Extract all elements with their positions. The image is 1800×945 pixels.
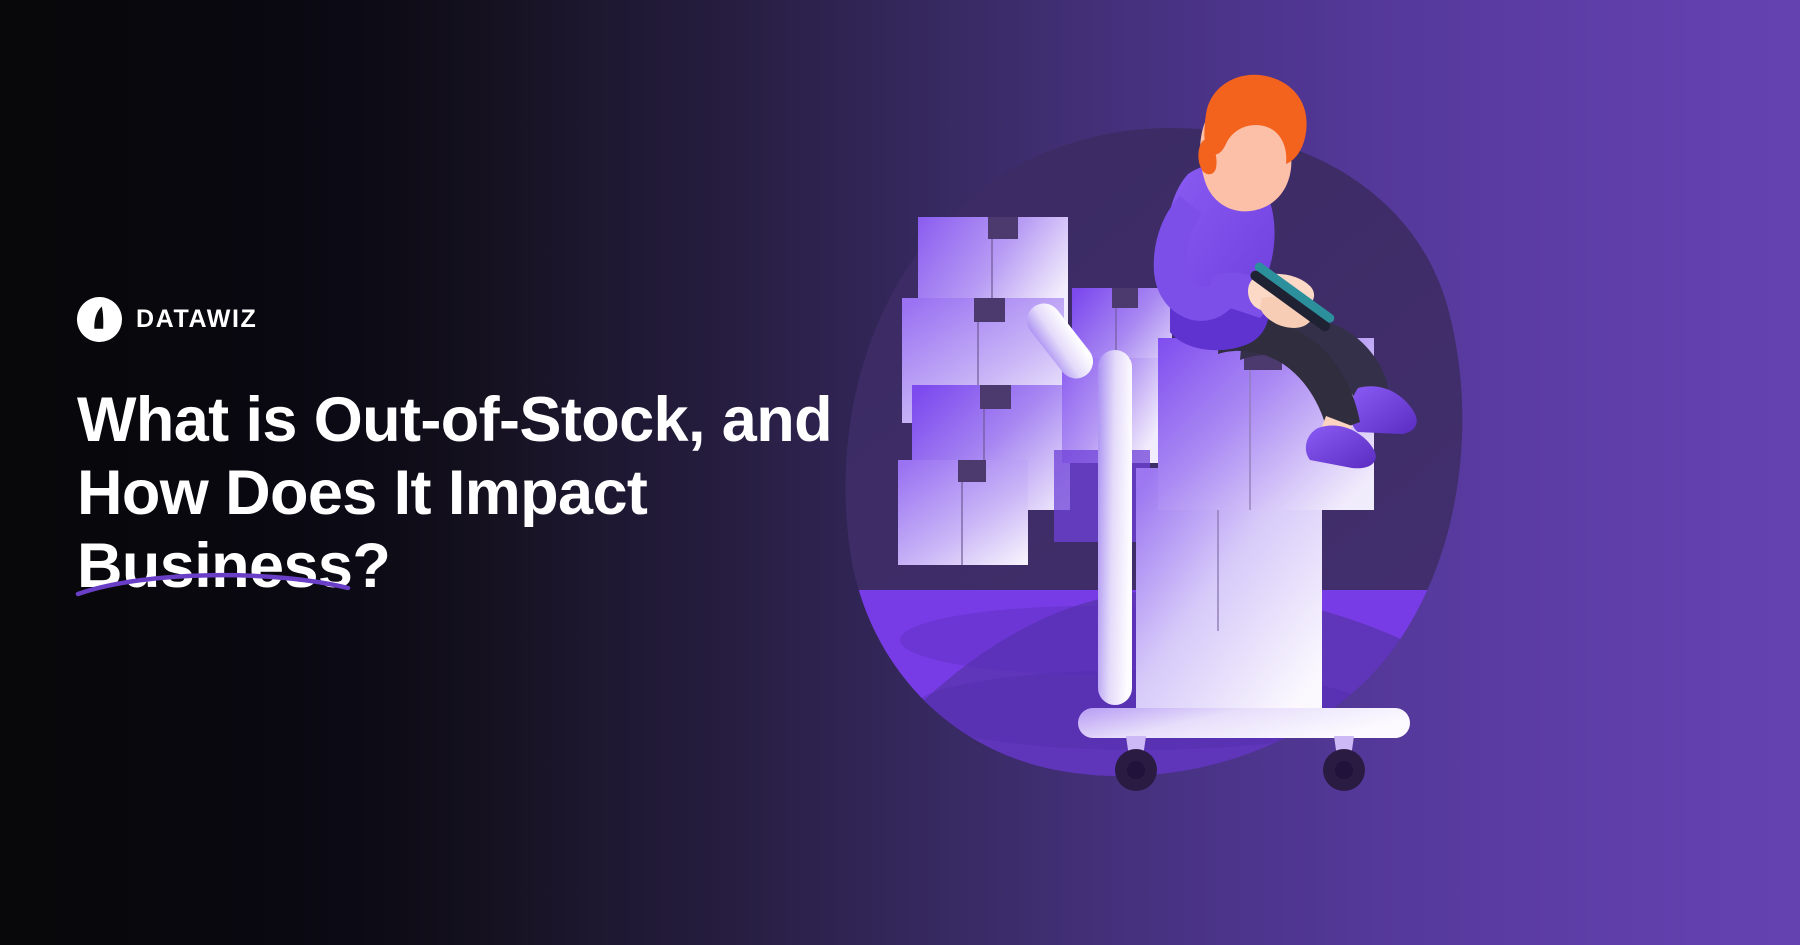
hero-content: DATAWIZ What is Out-of-Stock, and How Do…	[77, 296, 837, 603]
droplet-circle-logo-icon	[77, 297, 122, 342]
headline-line-1: What is Out-of-Stock, and	[77, 384, 797, 457]
page-title: What is Out-of-Stock, and How Does It Im…	[77, 384, 797, 603]
hero-banner: DATAWIZ What is Out-of-Stock, and How Do…	[0, 0, 1800, 945]
brand-logo[interactable]: DATAWIZ	[77, 296, 837, 342]
headline-line-3: Business?	[77, 530, 797, 603]
warehouse-worker-with-boxes-illustration	[840, 120, 1480, 820]
brand-name-text: DATAWIZ	[136, 307, 257, 332]
headline-line-2: How Does It Impact	[77, 457, 797, 530]
cart-wheel-right	[1323, 736, 1365, 791]
cardboard-box	[898, 460, 1028, 565]
